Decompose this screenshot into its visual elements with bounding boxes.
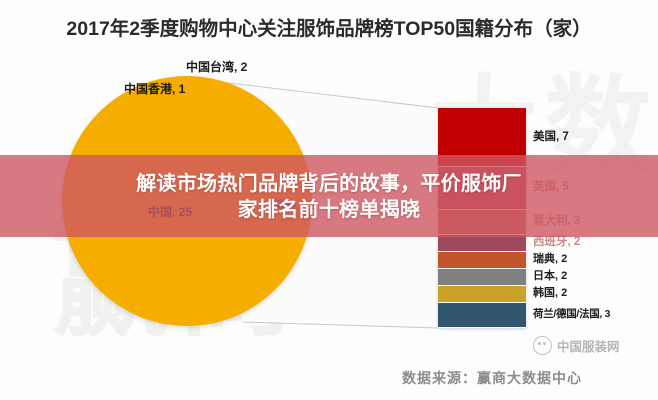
overlay-text-block: 解读市场热门品牌背后的故事，平价服饰厂 家排名前十榜单揭晓	[29, 170, 629, 223]
legend-item: 瑞典, 2	[533, 254, 567, 265]
site-logo-icon	[533, 336, 552, 355]
infographic-canvas: 赢商 大数 2017年2季度购物中心关注服饰品牌榜TOP50国籍分布（家） 中国…	[0, 0, 658, 400]
legend-item: 韩国, 2	[533, 288, 567, 299]
legend-item: 美国, 7	[533, 132, 569, 144]
bar-segment	[438, 235, 526, 252]
bar-segment	[438, 252, 526, 269]
site-watermark: 中国服装网	[533, 336, 620, 355]
pie-label-hongkong: 中国香港, 1	[124, 80, 185, 97]
chart-title: 2017年2季度购物中心关注服饰品牌榜TOP50国籍分布（家）	[0, 12, 658, 41]
legend-item: 荷兰/德国/法国, 3	[533, 309, 610, 320]
source-note: 数据来源：赢商大数据中心	[402, 368, 582, 388]
bar-segment	[438, 269, 526, 286]
pie-label-taiwan: 中国台湾, 2	[186, 58, 247, 75]
overlay-line-1: 解读市场热门品牌背后的故事，平价服饰厂	[29, 170, 629, 196]
legend-item: 日本, 2	[533, 271, 567, 282]
site-watermark-label: 中国服装网	[557, 336, 620, 355]
bar-segment	[438, 303, 526, 328]
overlay-line-2: 家排名前十榜单揭晓	[29, 196, 629, 222]
bar-segment	[438, 286, 526, 303]
legend-item: 西班牙, 2	[533, 237, 580, 249]
article-title-overlay: 解读市场热门品牌背后的故事，平价服饰厂 家排名前十榜单揭晓	[0, 155, 658, 237]
